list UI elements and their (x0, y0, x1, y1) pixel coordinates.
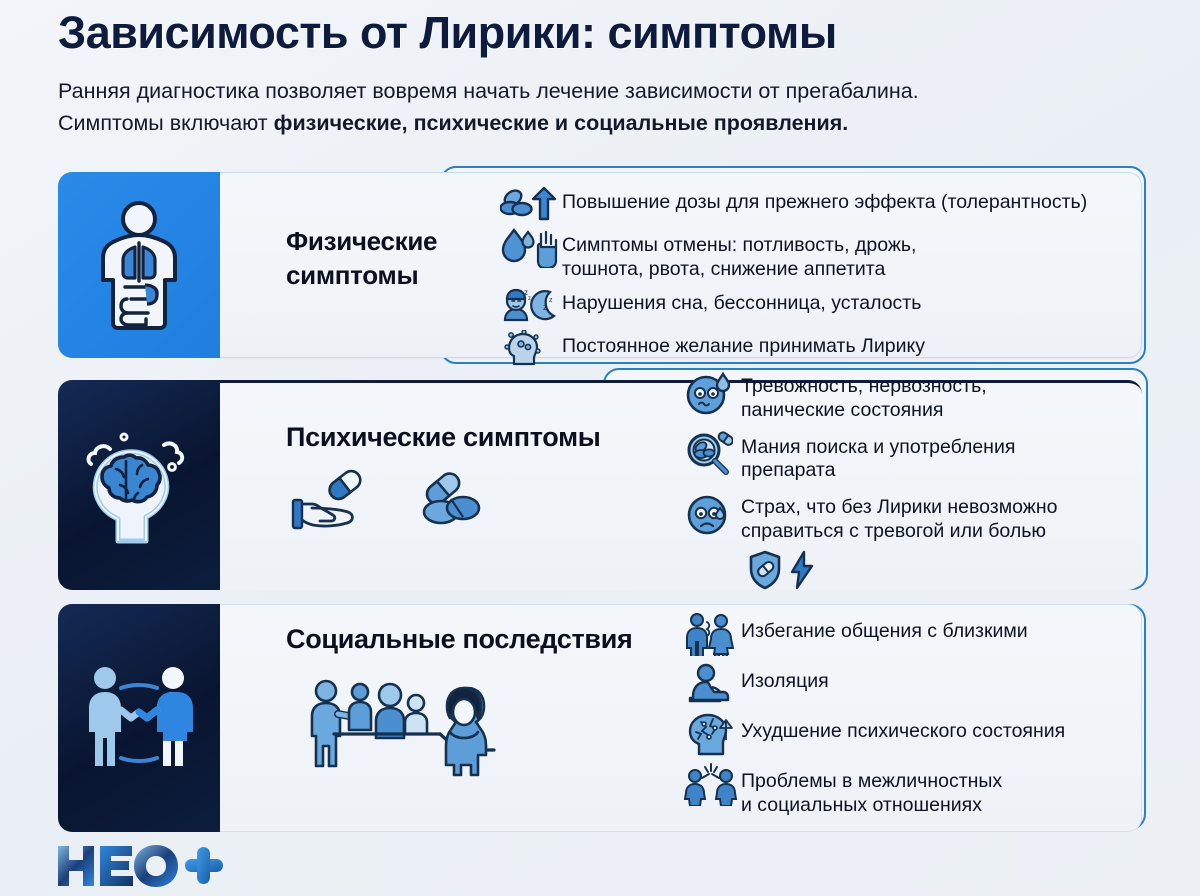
bullet-list-social: Избегание общения с близкими Изоляция (683, 612, 1183, 824)
list-item-label: Мания поиска и употребления препарата (735, 432, 1015, 484)
mid-icons-social (298, 670, 538, 780)
list-item[interactable]: Избегание общения с близкими (683, 612, 1183, 656)
svg-text:z: z (543, 302, 548, 312)
card-title-physical-line2: симптомы (286, 259, 437, 293)
list-item-label: Страх, что без Лирики невозможно справит… (735, 492, 1057, 544)
hand-with-capsule-icon (290, 468, 382, 534)
card-social-consequences[interactable]: Социальные последствия (58, 604, 1142, 832)
lightning-bolt-icon (785, 549, 819, 591)
infographic-page: Зависимость от Лирики: симптомы Ранняя д… (0, 0, 1200, 896)
head-cracked-mind-icon (683, 712, 739, 756)
page-title: Зависимость от Лирики: симптомы (58, 8, 1168, 58)
list-item-label-line2: препарата (741, 459, 1015, 483)
subtitle-line-2-bold: физические, психические и социальные про… (274, 111, 849, 135)
pills-up-arrow-icon (498, 184, 562, 224)
list-item[interactable]: Тревожность, нервозность, панические сос… (683, 371, 1183, 423)
footer-icons-mental (745, 549, 1183, 591)
list-item-label-line1: Тревожность, нервозность, (741, 375, 987, 399)
list-item-label-line2: тошнота, рвота, снижение аппетита (562, 258, 916, 282)
bullet-list-physical: Повышение дозы для прежнего эффекта (тол… (498, 184, 1198, 371)
card-physical-symptoms[interactable]: Физические симптомы Повышение дозы для п… (58, 172, 1142, 358)
list-item-label-line2: справиться с тревогой или болью (741, 520, 1057, 544)
header: Зависимость от Лирики: симптомы Ранняя д… (58, 8, 1168, 139)
head-brain-icon (80, 423, 198, 547)
list-item-label: Нарушения сна, бессонница, усталость (562, 285, 921, 316)
person-sitting-alone-icon (683, 662, 739, 706)
card-panel-social (58, 604, 220, 832)
pills-cluster-icon (416, 470, 490, 532)
svg-text:z: z (549, 297, 553, 304)
list-item-label: Симптомы отмены: потливость, дрожь, тошн… (562, 227, 916, 282)
list-item-label: Тревожность, нервозность, панические сос… (735, 371, 987, 423)
list-item-label-line2: панические состояния (741, 399, 987, 423)
mid-icons-mental (290, 468, 490, 534)
list-item-label: Повышение дозы для прежнего эффекта (тол… (562, 184, 1087, 215)
list-item-label-line1: Симптомы отмены: потливость, дрожь, (562, 234, 916, 258)
sweat-drops-hand-icon (498, 227, 562, 267)
list-item[interactable]: Повышение дозы для прежнего эффекта (тол… (498, 184, 1198, 224)
list-item-label: Избегание общения с близкими (739, 612, 1028, 644)
list-item-label-line1: Проблемы в межличностных (741, 770, 1002, 794)
list-item[interactable]: Ухудшение психического состояния (683, 712, 1183, 756)
list-item[interactable]: Симптомы отмены: потливость, дрожь, тошн… (498, 227, 1198, 282)
two-people-conflict-icon (683, 762, 739, 806)
human-body-organs-icon (85, 199, 193, 331)
list-item[interactable]: Мания поиска и употребления препарата (683, 432, 1183, 484)
man-woman-avoid-icon (683, 612, 739, 656)
list-item[interactable]: Изоляция (683, 662, 1183, 706)
brand-logo[interactable]: НЕО (56, 842, 226, 890)
card-panel-mental (58, 380, 220, 590)
list-item-label: Постоянное желание принимать Лирику (562, 328, 925, 359)
list-item-label-line2: и социальных отношениях (741, 794, 1002, 818)
bullet-list-mental: Тревожность, нервозность, панические сос… (683, 371, 1183, 600)
card-title-physical: Физические симптомы (286, 225, 437, 293)
sleeping-face-moon-icon: z z z z (498, 285, 562, 325)
list-item[interactable]: Постоянное желание принимать Лирику (498, 328, 1198, 368)
magnifier-pills-icon (683, 432, 735, 478)
group-avoidance-scene-icon (298, 670, 538, 780)
card-panel-physical (58, 172, 220, 358)
list-item-label: Ухудшение психического состояния (739, 712, 1065, 744)
head-craving-icon (498, 328, 562, 368)
list-item-label: Проблемы в межличностных и социальных от… (739, 762, 1002, 818)
subtitle-line-1: Ранняя диагностика позволяет вовремя нач… (58, 76, 1168, 107)
card-title-social: Социальные последствия (286, 624, 632, 655)
subtitle-line-2: Симптомы включают физические, психически… (58, 108, 1168, 139)
subtitle-line-2-plain: Симптомы включают (58, 111, 274, 135)
list-item-label: Изоляция (739, 662, 829, 694)
shield-pill-icon (745, 549, 785, 591)
list-item[interactable]: Страх, что без Лирики невозможно справит… (683, 492, 1183, 544)
list-item[interactable]: z z z z Нарушения сна, бессонница, устал… (498, 285, 1198, 325)
card-title-physical-line1: Физические (286, 225, 437, 259)
list-item[interactable]: Проблемы в межличностных и социальных от… (683, 762, 1183, 818)
sad-worried-face-icon (683, 492, 735, 538)
anxious-face-sweat-icon (683, 371, 735, 417)
list-item-label-line1: Мания поиска и употребления (741, 436, 1015, 460)
card-mental-symptoms[interactable]: Психические симптомы (58, 380, 1142, 590)
list-item-label-line1: Страх, что без Лирики невозможно (741, 496, 1057, 520)
two-people-handshake-icon (77, 660, 201, 776)
card-title-mental: Психические симптомы (286, 422, 601, 453)
page-subtitle: Ранняя диагностика позволяет вовремя нач… (58, 76, 1168, 138)
